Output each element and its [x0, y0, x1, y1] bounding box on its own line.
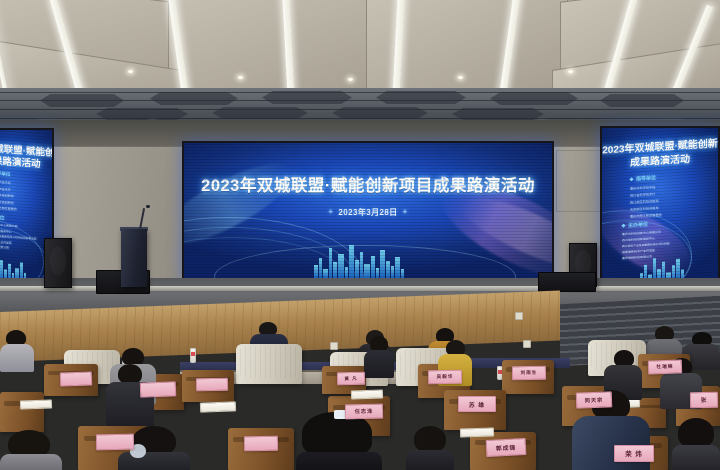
handout-2 — [351, 389, 383, 399]
person-left-edge — [0, 330, 34, 370]
person-foreground-7 — [672, 418, 720, 470]
nameplate: 张 — [690, 392, 718, 408]
nameplate: 任志泽 — [345, 404, 383, 420]
nameplate-text: 牡瑞楠 — [656, 364, 673, 371]
nameplate-text: 苏 雄 — [469, 400, 485, 409]
handout-4 — [20, 399, 52, 409]
nameplate-text: 吴毅华 — [437, 374, 454, 380]
nameplate: 同天宗 — [576, 391, 613, 408]
right-led-screen: 2023年双城联盟·赋能创新 成果路演活动 指导单位 重庆市科学技术局 四川省科… — [600, 126, 720, 288]
person-mid-2 — [364, 336, 394, 376]
nameplate-text: 黄 凡 — [344, 375, 357, 381]
person-foreground-5 — [406, 426, 454, 470]
wall-outlet-2 — [523, 340, 531, 348]
nameplate: 荣 炜 — [614, 445, 654, 462]
nameplate: 黄 凡 — [337, 372, 365, 385]
nameplate: 郭成锦 — [486, 438, 527, 457]
nameplate: 牡瑞楠 — [648, 359, 682, 374]
nameplate-text: 郭成锦 — [496, 442, 517, 452]
nameplate-text: 同天宗 — [585, 396, 604, 404]
wall-outlet-3 — [330, 342, 338, 350]
microphone-icon — [146, 205, 150, 208]
main-led-screen: 2023年双城联盟·赋能创新项目成果路演活动 ◈2023年3月28日◈ — [182, 141, 554, 283]
stage-monitor-right — [538, 272, 596, 292]
water-bottle-1 — [190, 348, 196, 363]
nameplate — [196, 378, 228, 392]
wall-outlet-1 — [515, 312, 523, 320]
nameplate — [96, 434, 134, 451]
nameplate-text: 任志泽 — [355, 408, 374, 415]
nameplate-text: 荣 炜 — [625, 449, 643, 458]
nameplate — [244, 436, 278, 452]
podium — [121, 229, 147, 287]
nameplate-text: 张 — [701, 396, 708, 404]
handout-5 — [460, 427, 494, 437]
person-foreground-6 — [0, 430, 62, 470]
person-foreground-4 — [296, 412, 382, 470]
nameplate — [60, 371, 92, 386]
nameplate: 吴毅华 — [428, 370, 462, 385]
conference-hall-photo: 3年双城联盟·赋能创 成果路演活动 指导单位 重庆市科学技术局 四川省科学技术厅… — [0, 0, 720, 470]
nameplate — [140, 381, 177, 397]
nameplate: 刘雨生 — [512, 366, 546, 381]
wood-chair-16 — [0, 392, 44, 432]
stage-speaker-left — [44, 238, 72, 288]
handout-1 — [200, 401, 236, 412]
nameplate: 苏 雄 — [458, 396, 496, 412]
armchair-2 — [236, 344, 302, 384]
ceiling — [0, 0, 720, 132]
nameplate-text: 刘雨生 — [521, 370, 538, 376]
